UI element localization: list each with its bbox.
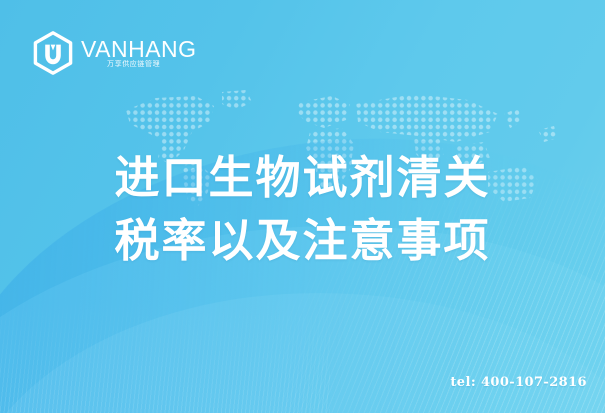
headline-line-1: 进口生物试剂清关 (0, 146, 605, 209)
wordmark-text: VANHANG (81, 36, 197, 62)
headline-line-2: 税率以及注意事项 (0, 209, 605, 272)
brand-logo[interactable]: VANHANG 万享供应链管理 (32, 31, 199, 75)
diagonal-hatch-texture-left (0, 273, 330, 413)
wave-ribbon-back (0, 275, 605, 413)
brand-wordmark: VANHANG 万享供应链管理 (81, 35, 199, 71)
page-title: 进口生物试剂清关 税率以及注意事项 (0, 146, 605, 272)
contact-telephone[interactable]: tel: 400-107-2816 (450, 375, 587, 390)
promo-banner: VANHANG 万享供应链管理 进口生物试剂清关 税率以及注意事项 tel: 4… (0, 0, 605, 413)
wordmark-subtitle: 万享供应链管理 (107, 59, 160, 68)
hexagon-u-logo-icon (32, 31, 74, 75)
